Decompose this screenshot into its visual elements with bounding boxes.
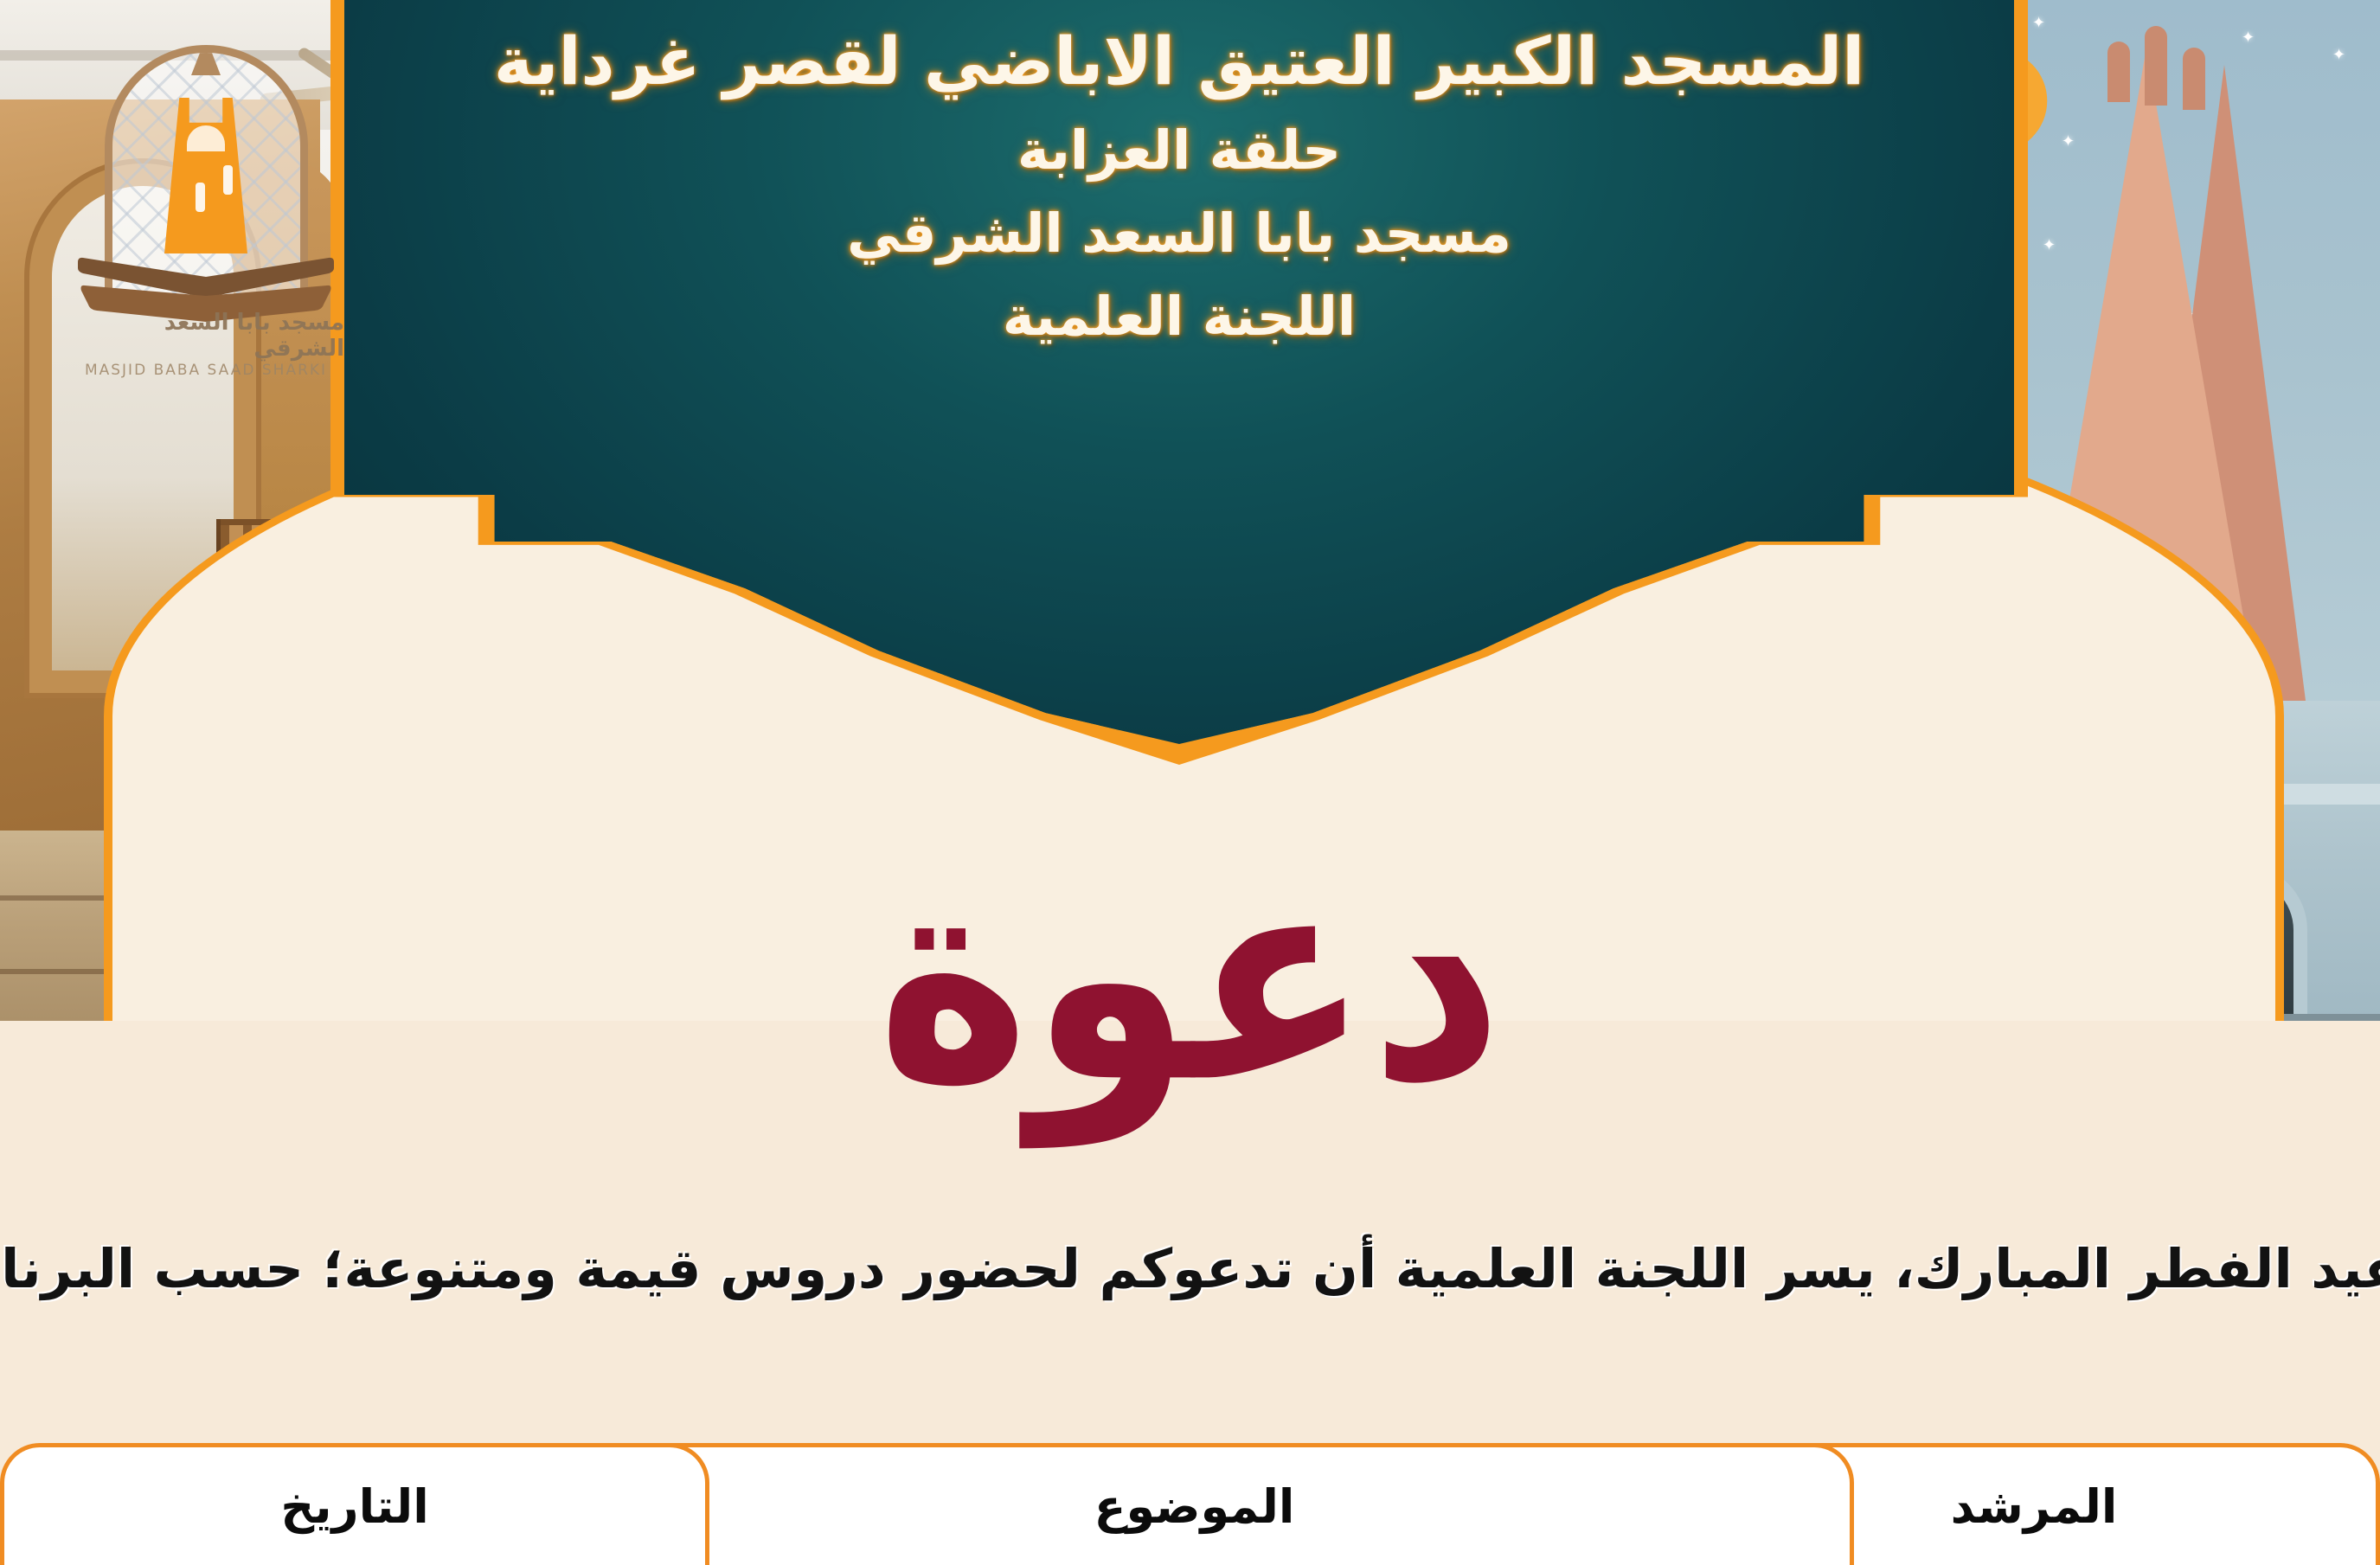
table-header-tarikh[interactable]: التاريخ: [0, 1443, 709, 1565]
mosque-main-title: المسجد الكبير العتيق الاباضي لقصر غرداية: [344, 14, 2014, 109]
minaret-slot-icon: [196, 183, 205, 212]
dawa-calligraphy: دعوة: [862, 805, 1519, 1151]
table-header-mawdoo[interactable]: الموضوع: [535, 1443, 1854, 1565]
dawa-calligraphy-word: دعوة: [876, 832, 1503, 1123]
star-icon: ✦: [2242, 30, 2255, 46]
committee-title: اللجنة العلمية: [344, 275, 2014, 358]
star-icon: ✦: [2332, 48, 2345, 63]
logo-latin-name: MASJID BABA SAAD SHARKI: [85, 362, 327, 379]
arch-finial-icon: [191, 45, 221, 75]
minaret-horn: [2107, 42, 2130, 102]
halqa-title: حلقة العزابة: [344, 109, 2014, 192]
mosque-brand-logo: مسجد بابا السعد الشرقي MASJID BABA SAAD …: [67, 45, 344, 408]
program-table-header-row: المرشد الموضوع التاريخ: [0, 1443, 2380, 1565]
minaret-horn: [2183, 48, 2205, 110]
logo-arabic-name: مسجد بابا السعد الشرقي: [67, 310, 344, 362]
mosque-name-title: مسجد بابا السعد الشرقي: [344, 192, 2014, 275]
invitation-poster: ✦ ✦ ✦ ✦ ✦ ✦ ✦ ✦ ✦ ✦ ✦ ✦ ✦ ✦ ✦ المسجد: [0, 0, 2380, 1565]
minaret-slot-icon: [223, 165, 233, 195]
star-icon: ✦: [2032, 16, 2045, 31]
invitation-body-text: بمناسبة عيد الفطر المبارك، يسر اللجنة ال…: [0, 1237, 2380, 1300]
minaret-tower-icon: [164, 98, 247, 253]
minaret-horn: [2145, 26, 2167, 106]
